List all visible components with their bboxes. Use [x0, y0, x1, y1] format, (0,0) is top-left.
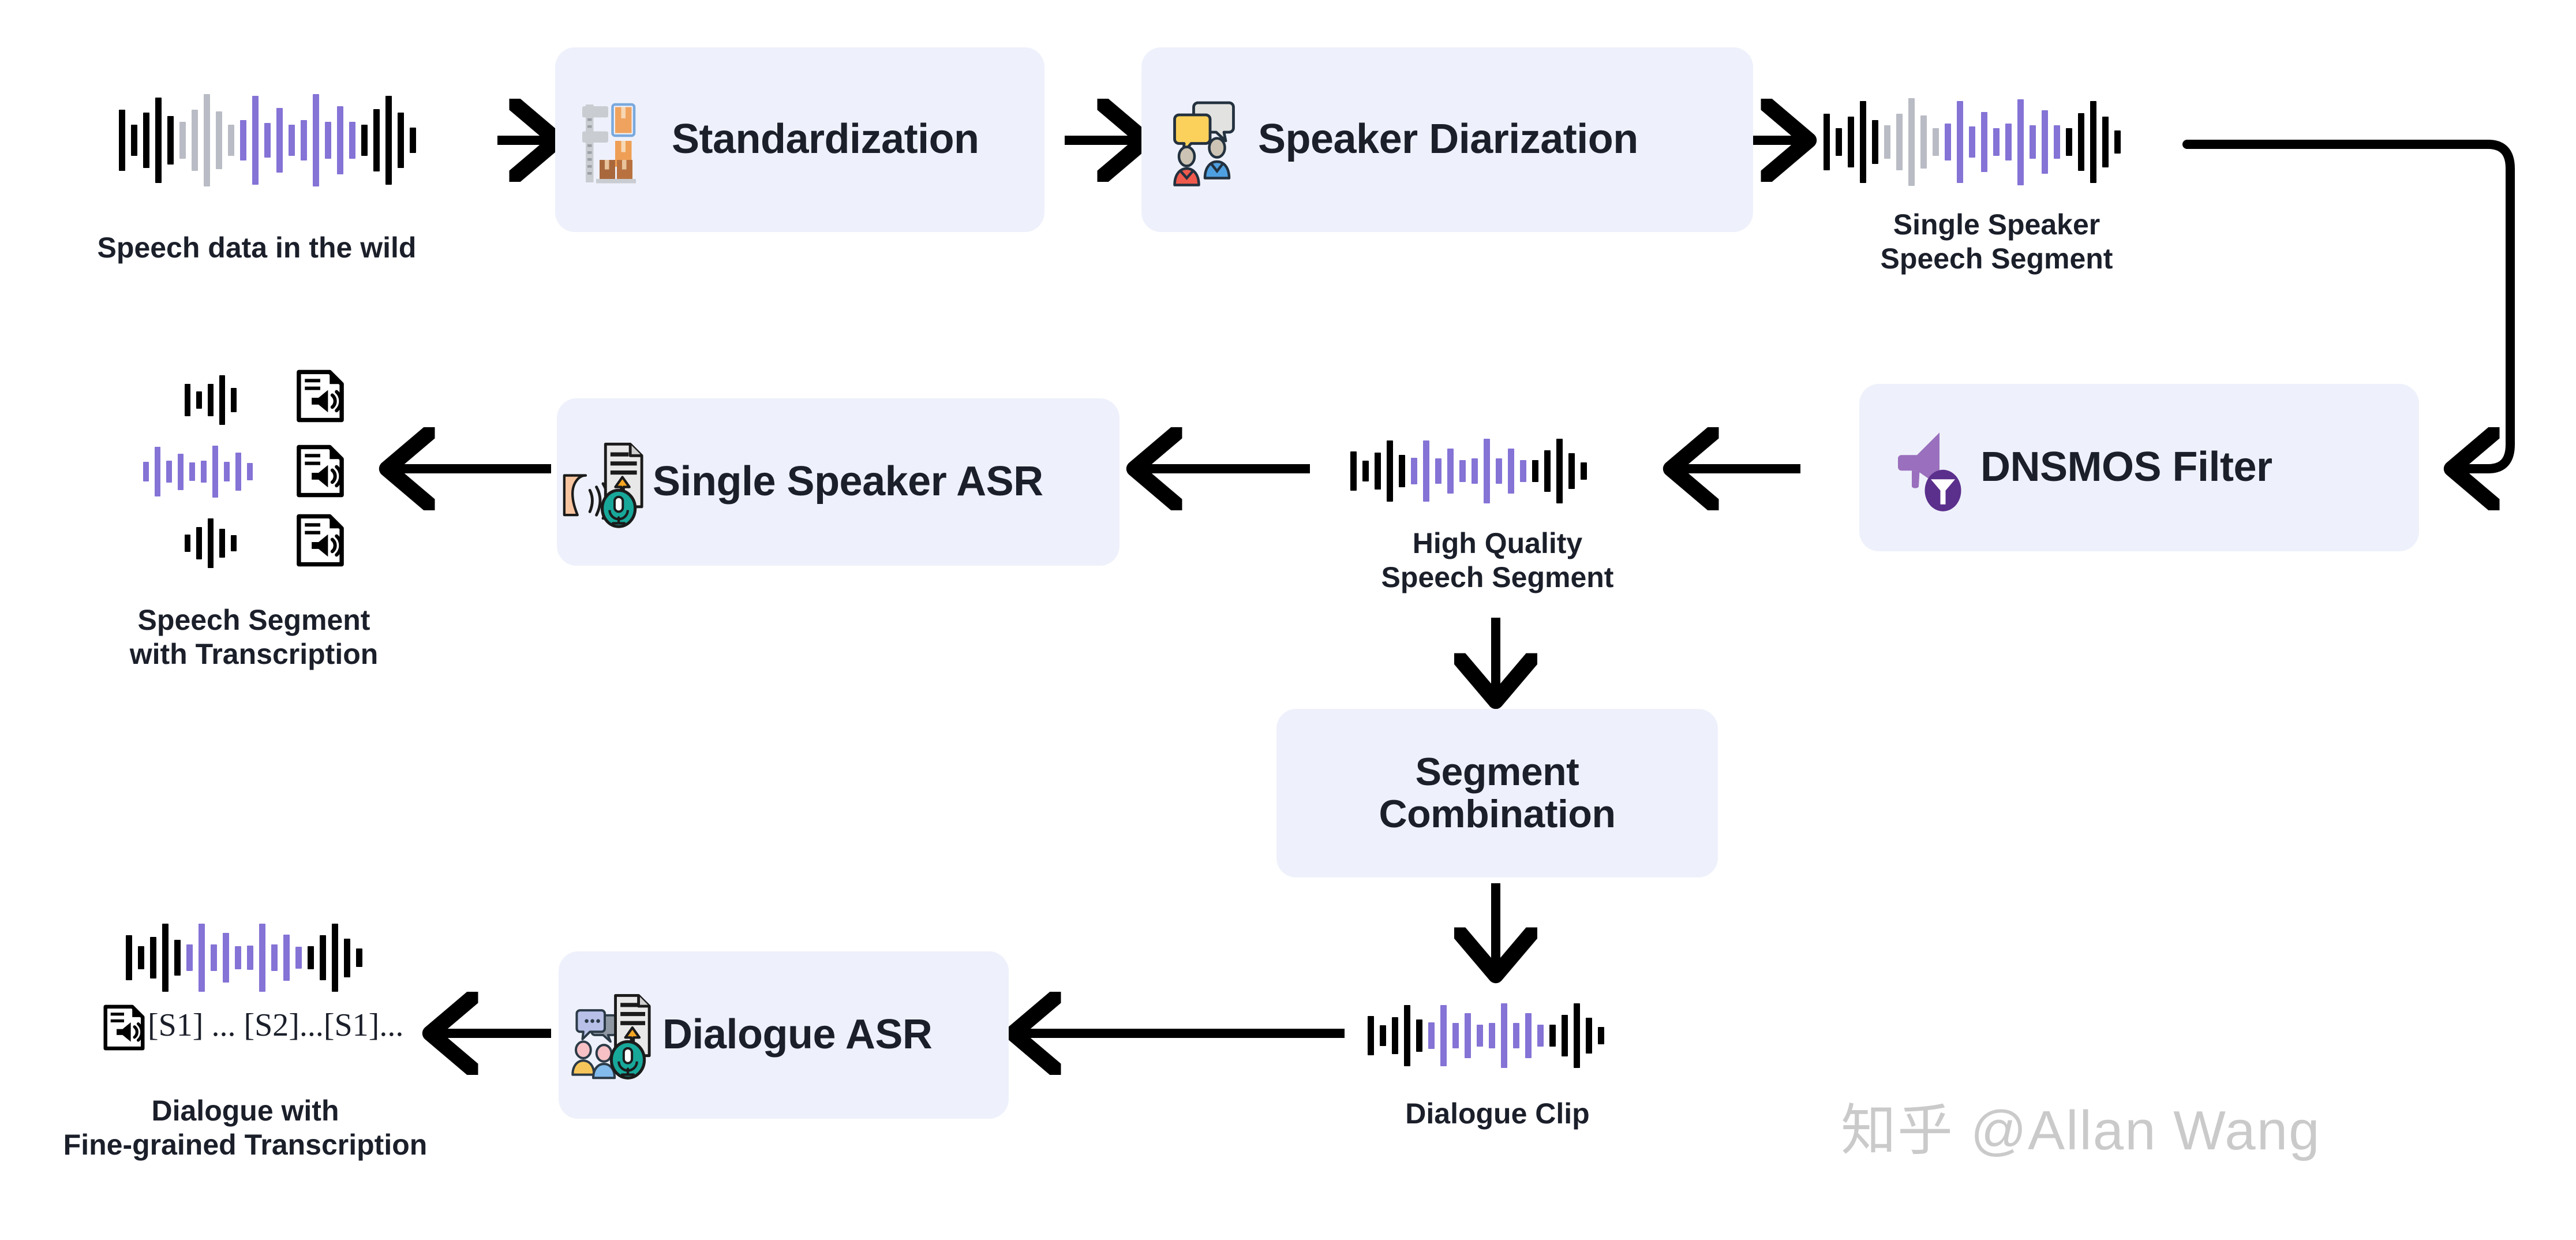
waveform-bar	[1387, 440, 1393, 502]
waveform-bar	[276, 108, 283, 173]
waveform-bar	[167, 116, 174, 164]
dialogue-clip-waveform	[1368, 1003, 1604, 1068]
waveform-bar	[344, 939, 350, 977]
waveform-bar	[201, 461, 207, 483]
segment-combination-line1: Segment	[1416, 750, 1579, 794]
waveform-bar	[1350, 451, 1357, 491]
speech-bubbles-people-icon	[1163, 92, 1250, 188]
stage-single-speaker-asr[interactable]: Single Speaker ASR	[557, 398, 1119, 566]
waveform-bar	[2066, 128, 2072, 156]
waveform-bar	[1452, 1023, 1459, 1048]
waveform-bar	[1824, 114, 1830, 170]
ruler-boxes-icon	[577, 92, 664, 188]
waveform-bar	[349, 122, 355, 159]
waveform-bar	[1544, 450, 1551, 491]
waveform-bar	[1848, 117, 1854, 167]
waveform-bar	[211, 944, 217, 971]
document-audio-icon-c	[294, 514, 346, 567]
waveform-bar	[192, 110, 198, 171]
waveform-bar	[1562, 1015, 1568, 1056]
waveform-bar	[1440, 1005, 1447, 1067]
waveform-bar	[373, 109, 380, 172]
waveform-bar	[2017, 99, 2024, 185]
waveform-bar	[1920, 115, 1927, 168]
waveform-bar	[410, 128, 416, 154]
waveform-bar	[1957, 101, 1963, 184]
stage-speaker-diarization-label: Speaker Diarization	[1258, 117, 1638, 162]
waveform-bar	[1993, 128, 2000, 156]
waveform-bar	[1496, 458, 1502, 483]
waveform-bar	[166, 461, 172, 483]
waveform-bar	[155, 98, 162, 182]
waveform-bar	[1568, 453, 1575, 488]
waveform-bar	[231, 388, 237, 412]
waveform-bar	[1411, 458, 1417, 484]
stage-dialogue-asr-label: Dialogue ASR	[662, 1013, 932, 1058]
waveform-bar	[2054, 125, 2060, 159]
waveform-bar	[126, 935, 132, 980]
waveform-bar	[1836, 128, 1842, 156]
waveform-bar	[2030, 125, 2036, 159]
waveform-bar	[174, 940, 181, 976]
face-document-mic-icon	[563, 433, 649, 531]
dialogue-output-waveform	[126, 924, 362, 992]
waveform-bar	[1508, 449, 1514, 494]
waveform-bar	[2005, 124, 2012, 160]
people-chat-document-mic-icon	[570, 986, 657, 1084]
stage-dnsmos-filter-label: DNSMOS Filter	[1980, 445, 2272, 490]
waveform-bar	[208, 518, 214, 568]
waveform-bar	[247, 463, 253, 480]
waveform-bar	[356, 948, 362, 967]
waveform-bar	[235, 946, 241, 969]
waveform-bar	[2078, 113, 2084, 171]
waveform-bar	[1501, 1003, 1507, 1068]
caption-single-speaker-speech-segment: Single Speaker Speech Segment	[1789, 208, 2204, 276]
waveform-bar	[1428, 1022, 1435, 1049]
waveform-bar	[1872, 120, 1878, 164]
waveform-bar	[196, 391, 202, 409]
waveform-bar	[1933, 128, 1939, 156]
waveform-bar	[1404, 1005, 1410, 1067]
waveform-bar	[1459, 460, 1466, 482]
pipeline-diagram: Speech data in the wild	[0, 0, 2576, 1240]
waveform-bar	[143, 113, 149, 168]
waveform-bar	[308, 946, 314, 969]
waveform-bar	[240, 120, 246, 160]
waveform-bar	[1368, 1016, 1374, 1056]
waveform-bar	[185, 535, 190, 551]
waveform-bar	[259, 924, 265, 992]
waveform-bar	[1435, 458, 1441, 483]
waveform-bar	[1908, 98, 1915, 186]
waveform-bar	[2102, 117, 2109, 167]
waveform-bar	[1525, 1013, 1532, 1059]
caption-speech-data-in-the-wild: Speech data in the wild	[69, 231, 444, 265]
waveform-bar	[216, 111, 222, 169]
waveform-bar	[2114, 130, 2121, 154]
stage-segment-combination[interactable]: Segment Combination	[1276, 709, 1718, 877]
waveform-bar	[1586, 1018, 1592, 1053]
waveform-bar	[1399, 455, 1405, 487]
caption-speech-segment-with-transcription: Speech Segment with Transcription	[75, 603, 433, 671]
waveform-bar	[1416, 1019, 1422, 1052]
waveform-bar	[235, 453, 241, 490]
stage-speaker-diarization[interactable]: Speaker Diarization	[1141, 47, 1753, 232]
waveform-bar	[1896, 114, 1903, 170]
waveform-bar	[189, 462, 195, 481]
waveform-bar	[1884, 125, 1890, 159]
waveform-bar	[223, 933, 229, 983]
document-audio-icon-a	[294, 369, 346, 423]
waveform-bar	[219, 529, 225, 558]
waveform-bar	[1484, 439, 1490, 503]
waveform-bar	[1375, 453, 1381, 490]
waveform-bar	[1860, 101, 1866, 184]
waveform-bar	[332, 924, 338, 992]
megaphone-funnel-icon	[1886, 421, 1972, 514]
waveform-bar	[264, 123, 271, 158]
speech-segment-b-waveform	[143, 446, 253, 498]
waveform-bar	[313, 94, 319, 186]
waveform-bar	[252, 96, 259, 185]
stage-segment-combination-label: Segment Combination	[1379, 751, 1615, 836]
waveform-bar	[2042, 110, 2048, 173]
waveform-bar	[1581, 462, 1587, 480]
waveform-bar	[1380, 1025, 1386, 1046]
waveform-bar	[247, 946, 253, 970]
speech-segment-c-waveform	[185, 518, 237, 568]
waveform-bar	[178, 454, 184, 490]
stage-single-speaker-asr-label: Single Speaker ASR	[653, 460, 1043, 505]
waveform-bar	[320, 935, 326, 980]
waveform-bar	[179, 122, 186, 159]
waveform-bar	[196, 527, 202, 560]
waveform-bar	[295, 947, 302, 969]
waveform-bar	[1362, 461, 1369, 481]
waveform-bar	[271, 944, 278, 971]
caption-dialogue-clip: Dialogue Clip	[1345, 1097, 1650, 1131]
waveform-bar	[325, 122, 331, 159]
waveform-bar	[119, 110, 125, 171]
waveform-bar	[1423, 440, 1429, 502]
waveform-bar	[283, 935, 290, 981]
waveform-bar	[1513, 1023, 1519, 1048]
waveform-bar	[1447, 449, 1454, 494]
waveform-bar	[1472, 458, 1478, 483]
waveform-bar	[162, 924, 169, 992]
waveform-bar	[199, 924, 205, 992]
waveform-bar	[301, 120, 307, 160]
waveform-bar	[150, 937, 156, 978]
dialogue-transcription-sample: [S1] ... [S2]...[S1]...	[148, 1007, 403, 1044]
waveform-bar	[361, 125, 368, 156]
waveform-bar	[1969, 126, 1975, 158]
caption-dialogue-with-fine-grained-transcription: Dialogue with Fine-grained Transcription	[35, 1094, 456, 1162]
waveform-bar	[224, 462, 230, 481]
waveform-bar	[337, 106, 343, 174]
waveform-bar	[1520, 460, 1526, 482]
waveform-bar	[1489, 1023, 1495, 1048]
waveform-bar	[1392, 1017, 1398, 1054]
waveform-bar	[289, 125, 295, 156]
stage-standardization[interactable]: Standardization	[555, 47, 1044, 232]
waveform-bar	[1549, 1025, 1556, 1047]
waveform-bar	[204, 94, 210, 186]
segment-combination-line2: Combination	[1379, 792, 1615, 836]
stage-dialogue-asr[interactable]: Dialogue ASR	[559, 951, 1009, 1119]
waveform-bar	[208, 384, 214, 416]
waveform-bar	[1598, 1027, 1604, 1045]
waveform-bar	[1532, 460, 1538, 482]
speech-data-in-the-wild-waveform	[119, 94, 416, 186]
stage-standardization-label: Standardization	[672, 117, 979, 162]
waveform-bar	[212, 446, 218, 498]
waveform-bar	[1477, 1025, 1483, 1047]
waveform-bar	[398, 113, 404, 168]
waveform-bar	[1556, 439, 1563, 503]
waveform-bar	[228, 125, 234, 156]
stage-dnsmos-filter[interactable]: DNSMOS Filter	[1859, 384, 2419, 551]
waveform-bar	[219, 375, 225, 425]
waveform-bar	[138, 946, 144, 969]
watermark: 知乎 @Allan Wang	[1841, 1085, 2320, 1166]
waveform-bar	[1537, 1025, 1544, 1047]
waveform-bar	[1981, 112, 1987, 171]
document-audio-icon-dialogue	[102, 1004, 147, 1051]
caption-high-quality-speech-segment: High Quality Speech Segment	[1298, 526, 1697, 595]
waveform-bar	[185, 384, 190, 416]
waveform-bar	[1945, 124, 1951, 160]
waveform-bar	[186, 944, 193, 971]
waveform-bar	[2090, 101, 2096, 184]
waveform-bar	[155, 447, 160, 496]
document-audio-icon-b	[294, 445, 346, 498]
waveform-bar	[143, 462, 149, 481]
single-speaker-speech-segment-waveform	[1824, 98, 2121, 186]
waveform-bar	[1465, 1013, 1471, 1059]
speech-segment-a-waveform	[185, 375, 237, 425]
waveform-bar	[231, 535, 237, 551]
waveform-bar	[385, 96, 392, 185]
waveform-bar	[131, 125, 137, 156]
waveform-bar	[1574, 1003, 1580, 1068]
high-quality-speech-segment-waveform	[1350, 439, 1587, 503]
